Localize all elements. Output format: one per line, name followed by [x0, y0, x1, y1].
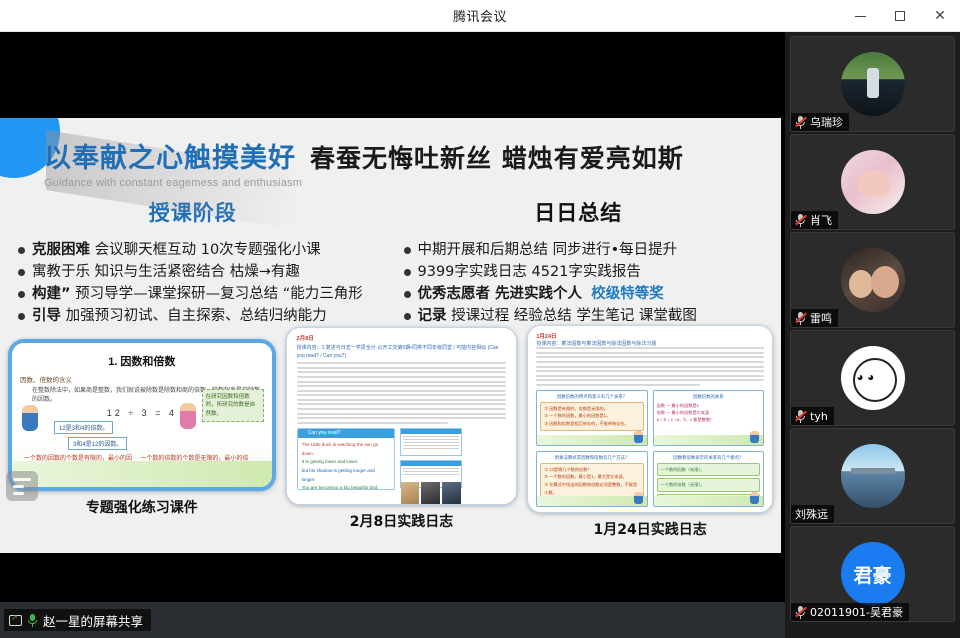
thumb2-attachments: Can you read? The Little duck is watchin…: [297, 428, 507, 490]
share-label: 赵一星的屏幕共享: [43, 611, 143, 630]
bottom-bar: 赵一星的屏幕共享: [0, 602, 785, 638]
mini-slide-card: [400, 460, 462, 488]
list-item: 中期开展和后期总结 同步进行•每日提升: [404, 239, 772, 261]
thumb2-date: 2月8日: [297, 334, 507, 342]
avatar: [841, 444, 905, 508]
bullet-dot-icon: [18, 247, 25, 254]
mic-muted-icon: [795, 606, 806, 619]
bullet-dot-icon: [404, 313, 411, 320]
participant-name: 肖飞: [810, 212, 832, 228]
thumb1-title: 1. 因数和倍数: [20, 353, 264, 369]
thumbnail-image: 2月8日 授课内容：1.复述与日志一学思全计·公开工交第5期•同类不同年级同堂 …: [286, 327, 518, 505]
slide-heading-blue: 以奉献之心触摸美好: [44, 136, 296, 175]
window-controls: ✕: [840, 0, 960, 32]
participant-name: 刘殊远: [795, 506, 828, 522]
thumbnail-image: 1月24日 授课内容：乘法因数与乘法因数与除法因数与除法习题 因数倍数的特点和意…: [527, 325, 773, 513]
toolbar-handle-icon[interactable]: [6, 471, 38, 501]
thumb1-tag-right: 3和4是12的因数。: [68, 437, 127, 450]
bullet-text: 预习导学—课堂探研—复习总结 “能力三角形: [75, 286, 363, 302]
shared-screen-stage[interactable]: 以奉献之心触摸美好 春蚕无悔吐新丝 蜡烛有爱亮如斯 Guidance with …: [0, 32, 785, 602]
maximize-icon: [895, 11, 905, 21]
bullet-text: 会议聊天框互动 10次专题强化小课: [95, 242, 321, 258]
list-item: 9399字实践日志 4521字实践报告: [404, 261, 772, 283]
list-item: 优秀志愿者 先进实践个人 校级特等奖: [404, 283, 772, 305]
participant-name-bar: 雷鸣: [791, 309, 838, 327]
participant-sidebar[interactable]: 乌瑞珍 肖飞 雷鸣 tyh: [785, 32, 960, 638]
thumb1-note: 在研究因数和倍数时，所研究的数是自然数。: [202, 389, 264, 422]
bullet-strong: 优秀志愿者 先进实践个人: [418, 286, 583, 302]
english-card-title: Can you read?: [298, 429, 394, 438]
thumbnail-caption: 1月24日实践日志: [527, 519, 773, 539]
thumb3-subject: 授课内容：乘法因数与乘法因数与除法因数与除法习题: [536, 340, 764, 347]
english-card-text: The Little duck is watching the sun go d…: [298, 438, 394, 490]
list-item: 克服困难 会议聊天框互动 10次专题强化小课: [18, 239, 386, 261]
student-illustration-icon: [750, 492, 759, 504]
mic-muted-icon: [795, 116, 806, 129]
avatar-initials: 君豪: [853, 561, 891, 588]
list-item: 记录 授课过程 经验总结 学生笔记 课堂截图: [404, 305, 772, 327]
thumb3-date: 1月24日: [536, 332, 764, 340]
bullet-text: 9399字实践日志 4521字实践报告: [418, 264, 641, 280]
column-teaching-stage: 授课阶段 克服困难 会议聊天框互动 10次专题强化小课 寓教于乐 知识与生活紧密…: [0, 197, 386, 327]
column-title-summary: 日日总结: [386, 197, 772, 227]
bullet-text: 寓教于乐 知识与生活紧密结合 枯燥→有趣: [32, 264, 300, 280]
slide-columns: 授课阶段 克服困难 会议聊天框互动 10次专题强化小课 寓教于乐 知识与生活紧密…: [0, 197, 781, 327]
bullet-strong: 引导: [32, 308, 61, 324]
thumb2-side-cards: [400, 428, 462, 490]
column-daily-summary: 日日总结 中期开展和后期总结 同步进行•每日提升 9399字实践日志 4521字…: [386, 197, 772, 327]
participant-tile[interactable]: 乌瑞珍: [790, 36, 955, 132]
maximize-button[interactable]: [880, 0, 920, 32]
list-item: 构建” 预习导学—课堂探研—复习总结 “能力三角形: [18, 283, 386, 305]
presentation-slide: 以奉献之心触摸美好 春蚕无悔吐新丝 蜡烛有爱亮如斯 Guidance with …: [0, 118, 781, 553]
title-bar: 腾讯会议 ✕: [0, 0, 960, 32]
english-slide-card: Can you read? The Little duck is watchin…: [297, 428, 395, 490]
thumb3-slide-grid: 因数倍数的特点和意义有几个关系？ ① 因数是有限的，倍数是无限的。 ② 一个数的…: [536, 390, 764, 507]
participant-tile[interactable]: 君豪 02011901-吴君豪: [790, 526, 955, 622]
close-icon: ✕: [934, 9, 946, 23]
slide-header: 以奉献之心触摸美好 春蚕无悔吐新丝 蜡烛有爱亮如斯 Guidance with …: [0, 118, 781, 189]
screen-share-indicator[interactable]: 赵一星的屏幕共享: [4, 609, 151, 631]
list-item: 寓教于乐 知识与生活紧密结合 枯燥→有趣: [18, 261, 386, 283]
bullet-strong: 记录: [418, 308, 447, 324]
bullet-dot-icon: [18, 291, 25, 298]
slide-heading-black: 春蚕无悔吐新丝 蜡烛有爱亮如斯: [310, 139, 684, 175]
thumb2-subject: 授课内容：1.复述与日志一学思全计·公开工交第5期•同类不同年级同堂 / 可能内…: [297, 344, 507, 360]
mic-muted-icon: [795, 214, 806, 227]
bullet-text: 授课过程 经验总结 学生笔记 课堂截图: [451, 308, 697, 324]
bullet-text: 加强预习初试、自主探索、总结归纳能力: [66, 308, 327, 324]
slide-thumbnail-row: 1. 因数和倍数 因数、倍数的含义 在整数除法中，如果商是整数，我们就说被除数是…: [0, 339, 781, 539]
bullet-dot-icon: [18, 269, 25, 276]
avatar: [841, 52, 905, 116]
participant-name: 02011901-吴君豪: [810, 604, 903, 620]
thumbnail-caption: 专题强化练习课件: [8, 497, 276, 517]
bullet-text: 中期开展和后期总结 同步进行•每日提升: [418, 242, 678, 258]
participant-name-bar: 刘殊远: [791, 505, 834, 523]
student-illustration-icon: [634, 492, 643, 504]
bullet-dot-icon: [404, 247, 411, 254]
grid-slide-card: 因数倍数的特点和意义有几个关系？ ① 因数是有限的，倍数是无限的。 ② 一个数的…: [536, 390, 647, 446]
grid-slide-card: 因数倍数的关系 因数 — 最小的因数是1 倍数 — 最小的倍数是它本身 a ÷ …: [653, 390, 764, 446]
participant-name-bar: 02011901-吴君豪: [791, 603, 909, 621]
text-lines: [297, 362, 507, 424]
participant-tile[interactable]: 雷鸣: [790, 232, 955, 328]
student-illustration-icon: [750, 431, 759, 443]
bullet-strong: 构建”: [32, 286, 71, 302]
avatar: [841, 346, 905, 410]
tencent-meeting-window: 腾讯会议 ✕ 以奉献之心触摸美好 春蚕无悔吐新丝 蜡烛有爱亮如斯 Guidanc…: [0, 0, 960, 638]
photo-row: [401, 482, 461, 504]
slide-subtitle: Guidance with constant eagemess and enth…: [44, 177, 781, 189]
avatar: 君豪: [841, 542, 905, 606]
screen-share-icon: [9, 615, 22, 626]
student-illustration-icon: [180, 403, 196, 429]
participant-name: 雷鸣: [810, 310, 832, 326]
avatar: [841, 248, 905, 312]
list-item: 引导 加强预习初试、自主探索、总结归纳能力: [18, 305, 386, 327]
grass-decoration: [12, 461, 272, 487]
avatar: [841, 150, 905, 214]
mic-muted-icon: [795, 312, 806, 325]
participant-tile[interactable]: 肖飞: [790, 134, 955, 230]
bullet-list-summary: 中期开展和后期总结 同步进行•每日提升 9399字实践日志 4521字实践报告 …: [386, 239, 772, 327]
bullet-accent: 校级特等奖: [591, 286, 664, 302]
thumb1-heading: 因数、倍数的含义: [20, 374, 264, 384]
bullet-list-teaching: 克服困难 会议聊天框互动 10次专题强化小课 寓教于乐 知识与生活紧密结合 枯燥…: [0, 239, 386, 327]
photo-thumb: [442, 482, 461, 504]
bullet-dot-icon: [404, 291, 411, 298]
student-illustration-icon: [22, 405, 38, 431]
thumbnail-courseware: 1. 因数和倍数 因数、倍数的含义 在整数除法中，如果商是整数，我们就说被除数是…: [8, 339, 276, 517]
photo-thumb: [421, 482, 440, 504]
minimize-button[interactable]: [840, 0, 880, 32]
thumbnail-log-feb8: 2月8日 授课内容：1.复述与日志一学思全计·公开工交第5期•同类不同年级同堂 …: [286, 327, 518, 531]
close-button[interactable]: ✕: [920, 0, 960, 32]
thumb1-tag-left: 12是3和4的倍数。: [54, 421, 113, 434]
participant-tile[interactable]: tyh: [790, 330, 955, 426]
photo-thumb: [401, 482, 420, 504]
thumbnail-caption: 2月8日实践日志: [286, 511, 518, 531]
bullet-dot-icon: [404, 269, 411, 276]
grid-slide-card: 因数和倍数表示的关系有几个要点？ 一个数的因数（有限）。 一个数的倍数（无限）。…: [653, 451, 764, 507]
participant-name: 乌瑞珍: [810, 114, 843, 130]
mini-slide-card: [400, 428, 462, 456]
bullet-strong: 克服困难: [32, 242, 90, 258]
thumbnail-log-jan24: 1月24日 授课内容：乘法因数与乘法因数与除法因数与除法习题 因数倍数的特点和意…: [527, 325, 773, 539]
participant-tile[interactable]: 刘殊远: [790, 428, 955, 524]
mic-muted-icon: [795, 410, 806, 423]
bullet-dot-icon: [18, 313, 25, 320]
participant-name-bar: 肖飞: [791, 211, 838, 229]
mic-on-icon: [27, 614, 38, 627]
text-lines: [536, 347, 764, 386]
participant-name-bar: tyh: [791, 407, 834, 425]
participant-name: tyh: [810, 410, 828, 423]
window-title: 腾讯会议: [453, 6, 507, 25]
student-illustration-icon: [634, 431, 643, 443]
thumbnail-image: 1. 因数和倍数 因数、倍数的含义 在整数除法中，如果商是整数，我们就说被除数是…: [8, 339, 276, 491]
grid-slide-card: 用乘法算式求因数和倍数有几个方法？ ① 12是哪几个数的倍数？ ② 一个数的因数…: [536, 451, 647, 507]
minimize-icon: [855, 16, 866, 17]
participant-name-bar: 乌瑞珍: [791, 113, 849, 131]
